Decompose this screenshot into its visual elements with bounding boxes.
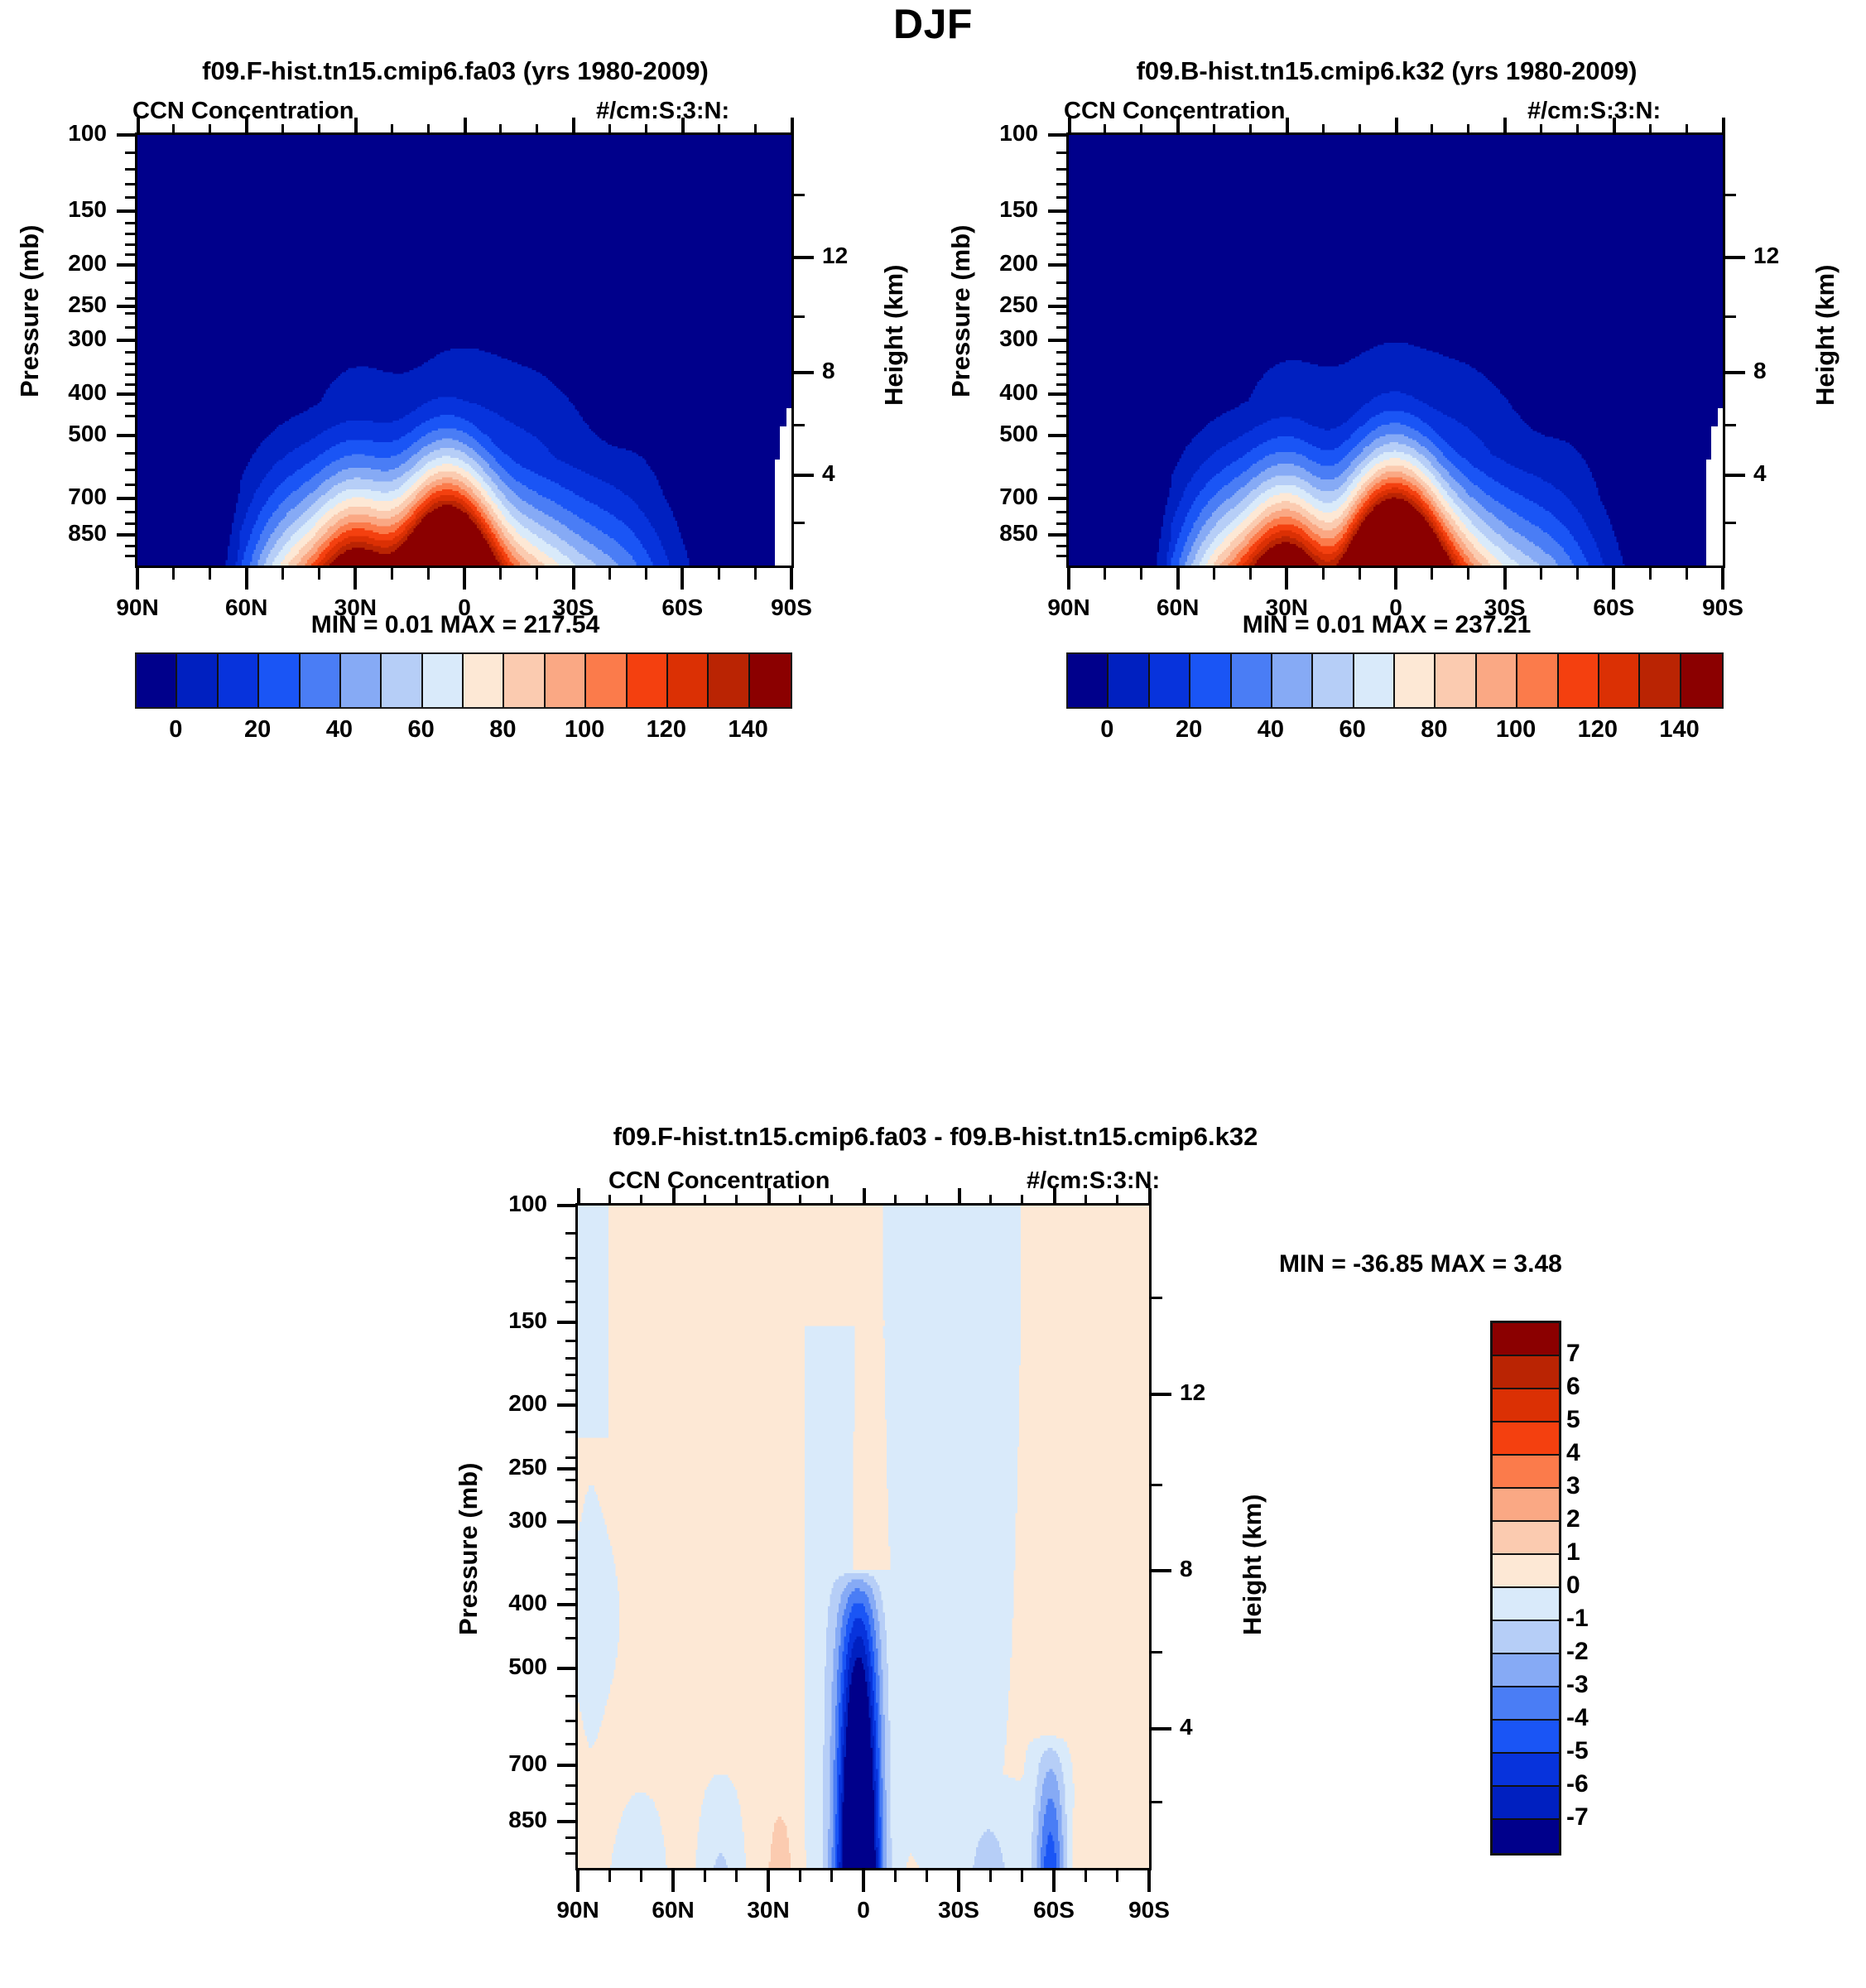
pressure-minor-tick — [1056, 545, 1066, 547]
pressure-tick-label: 100 — [68, 120, 107, 147]
colorbar-cell — [1517, 654, 1558, 707]
colorbar-cell — [341, 654, 382, 707]
colorbar-tick-label: 0 — [1100, 716, 1113, 744]
top-tick — [681, 118, 685, 132]
pressure-minor-tick — [565, 1232, 575, 1235]
pressure-tick-label: 500 — [508, 1653, 547, 1680]
lat-tick — [1285, 568, 1288, 590]
top-tick — [1148, 1188, 1152, 1203]
lat-minor-tick — [1576, 568, 1579, 580]
pressure-tick-label: 250 — [68, 291, 107, 318]
top-tick — [1613, 118, 1616, 132]
panel-diff-title: f09.F-hist.tn15.cmip6.fa03 - f09.B-hist.… — [315, 1122, 1556, 1152]
pressure-minor-tick — [565, 1539, 575, 1542]
panel-left-y2label: Height (km) — [879, 265, 909, 407]
colorbar-tick-label: -6 — [1566, 1770, 1589, 1798]
lat-tick — [1052, 1870, 1056, 1892]
colorbar-cell — [1493, 1522, 1559, 1555]
pressure-tick — [1048, 533, 1066, 537]
height-minor-tick — [794, 424, 805, 426]
colorbar-cell — [1599, 654, 1640, 707]
pressure-minor-tick — [125, 383, 135, 386]
pressure-minor-tick — [565, 1280, 575, 1283]
top-tick — [499, 124, 502, 132]
top-tick — [1104, 124, 1106, 132]
pressure-minor-tick — [125, 522, 135, 525]
lat-minor-tick — [718, 568, 720, 580]
top-tick — [464, 118, 467, 132]
colorbar-tick-label: 40 — [326, 716, 353, 744]
height-minor-tick — [1725, 522, 1736, 524]
lat-minor-tick — [894, 1870, 897, 1882]
pressure-minor-tick — [1056, 363, 1066, 365]
pressure-minor-tick — [1056, 326, 1066, 329]
pressure-minor-tick — [565, 1836, 575, 1839]
lat-tick — [862, 1870, 865, 1892]
lat-tick — [572, 568, 575, 590]
pressure-minor-tick — [565, 1573, 575, 1576]
top-tick — [608, 124, 611, 132]
lat-minor-tick — [608, 1870, 611, 1882]
top-tick — [1322, 124, 1325, 132]
colorbar-cell — [1493, 1323, 1559, 1356]
colorbar-cell — [1493, 1422, 1559, 1456]
top-tick — [1359, 124, 1361, 132]
height-tick-label: 8 — [1753, 358, 1767, 384]
colorbar-tick-label: 100 — [1496, 716, 1536, 744]
height-tick — [794, 256, 814, 259]
height-minor-tick — [1152, 1297, 1162, 1299]
pressure-tick — [1048, 263, 1066, 267]
pressure-minor-tick — [1056, 243, 1066, 246]
pressure-minor-tick — [1056, 196, 1066, 199]
top-tick — [608, 1195, 611, 1203]
colorbar-cell — [546, 654, 586, 707]
colorbar-tick-label: 20 — [244, 716, 271, 744]
colorbar-cell — [1313, 654, 1354, 707]
top-tick — [1722, 118, 1725, 132]
lat-tick-label: 90S — [1702, 594, 1743, 621]
lat-minor-tick — [926, 1870, 928, 1882]
pressure-tick — [117, 133, 135, 137]
pressure-tick-label: 400 — [68, 379, 107, 406]
top-tick — [767, 1188, 771, 1203]
top-tick — [1140, 124, 1142, 132]
pressure-tick — [557, 1467, 575, 1471]
panel-right-plot — [1066, 132, 1725, 568]
pressure-minor-tick — [125, 243, 135, 246]
panel-diff-colorbar-labels: 76543210-1-2-3-4-5-6-7 — [1566, 1321, 1641, 1851]
pressure-tick-label: 300 — [508, 1507, 547, 1533]
colorbar-cell — [586, 654, 627, 707]
colorbar-tick-label: 120 — [1578, 716, 1618, 744]
lat-tick-label: 30S — [1484, 594, 1526, 621]
pressure-minor-tick — [125, 312, 135, 315]
top-tick — [754, 124, 757, 132]
pressure-tick — [117, 305, 135, 308]
pressure-tick — [1048, 339, 1066, 342]
height-tick-label: 4 — [1753, 460, 1767, 487]
colorbar-cell — [301, 654, 341, 707]
pressure-tick — [117, 209, 135, 213]
pressure-minor-tick — [125, 555, 135, 557]
lat-minor-tick — [499, 568, 502, 580]
colorbar-cell — [1068, 654, 1109, 707]
colorbar-cell — [1493, 1820, 1559, 1853]
colorbar-cell — [1272, 654, 1313, 707]
pressure-tick-label: 100 — [508, 1191, 547, 1217]
pressure-minor-tick — [565, 1720, 575, 1722]
pressure-tick — [557, 1204, 575, 1207]
height-minor-tick — [1725, 194, 1736, 196]
pressure-minor-tick — [1056, 373, 1066, 376]
lat-minor-tick — [209, 568, 211, 580]
panel-diff-colorbar — [1490, 1321, 1561, 1856]
colorbar-cell — [504, 654, 545, 707]
colorbar-cell — [259, 654, 300, 707]
pressure-minor-tick — [1056, 282, 1066, 284]
panel-diff-variable-label: CCN Concentration — [608, 1167, 830, 1195]
colorbar-tick-label: -1 — [1566, 1605, 1589, 1633]
height-tick-label: 8 — [822, 358, 835, 384]
pressure-tick — [557, 1403, 575, 1407]
colorbar-cell — [1493, 1687, 1559, 1721]
pressure-minor-tick — [125, 484, 135, 486]
height-minor-tick — [794, 522, 805, 524]
pressure-minor-tick — [1056, 233, 1066, 235]
lat-tick — [463, 568, 466, 590]
pressure-minor-tick — [1056, 183, 1066, 185]
lat-minor-tick — [391, 568, 393, 580]
panel-right-colorbar-labels: 020406080100120140 — [1066, 716, 1720, 749]
top-tick — [354, 118, 358, 132]
pressure-minor-tick — [565, 1257, 575, 1259]
lat-tick-label: 30N — [747, 1897, 789, 1923]
pressure-tick — [117, 434, 135, 437]
lat-tick-label: 0 — [458, 594, 471, 621]
lat-tick-label: 90S — [771, 594, 812, 621]
pressure-minor-tick — [125, 168, 135, 171]
colorbar-tick-label: 3 — [1566, 1472, 1580, 1500]
pressure-tick-label: 700 — [999, 484, 1038, 510]
pressure-tick-label: 850 — [68, 520, 107, 546]
lat-tick — [681, 568, 684, 590]
top-tick — [1176, 118, 1180, 132]
colorbar-tick-label: -5 — [1566, 1737, 1589, 1765]
pressure-tick — [1048, 392, 1066, 396]
colorbar-tick-label: -7 — [1566, 1803, 1589, 1832]
top-tick — [209, 124, 211, 132]
colorbar-cell — [709, 654, 749, 707]
pressure-minor-tick — [125, 282, 135, 284]
main-title: DJF — [0, 0, 1866, 48]
panel-right-variable-label: CCN Concentration — [1064, 98, 1285, 125]
top-tick — [640, 1195, 642, 1203]
top-tick — [1686, 124, 1688, 132]
pressure-minor-tick — [1056, 484, 1066, 486]
pressure-minor-tick — [565, 1695, 575, 1697]
colorbar-cell — [1493, 1489, 1559, 1522]
pressure-minor-tick — [125, 253, 135, 256]
lat-tick-label: 60S — [1033, 1897, 1075, 1923]
lat-tick-label: 60N — [652, 1897, 694, 1923]
colorbar-cell — [423, 654, 464, 707]
lat-tick-label: 90N — [1047, 594, 1089, 621]
colorbar-cell — [219, 654, 259, 707]
lat-tick-label: 0 — [857, 1897, 870, 1923]
lat-minor-tick — [640, 1870, 642, 1882]
top-tick — [799, 1195, 801, 1203]
lat-tick-label: 30N — [1266, 594, 1308, 621]
colorbar-tick-label: 140 — [1659, 716, 1699, 744]
pressure-tick — [1048, 305, 1066, 308]
colorbar-tick-label: 2 — [1566, 1505, 1580, 1533]
pressure-minor-tick — [565, 1803, 575, 1805]
lat-minor-tick — [1467, 568, 1469, 580]
pressure-minor-tick — [125, 545, 135, 547]
pressure-tick-label: 300 — [68, 325, 107, 352]
lat-tick — [1067, 568, 1070, 590]
colorbar-cell — [668, 654, 709, 707]
pressure-tick — [1048, 209, 1066, 213]
pressure-minor-tick — [565, 1374, 575, 1376]
panel-right-units-label: #/cm:S:3:N: — [1527, 98, 1661, 125]
panel-diff-units-label: #/cm:S:3:N: — [1027, 1167, 1160, 1195]
colorbar-tick-label: 60 — [407, 716, 434, 744]
pressure-tick-label: 250 — [508, 1454, 547, 1480]
lat-minor-tick — [754, 568, 757, 580]
lat-minor-tick — [735, 1870, 738, 1882]
pressure-tick-label: 150 — [508, 1307, 547, 1334]
height-tick — [1725, 371, 1745, 374]
lat-minor-tick — [281, 568, 284, 580]
pressure-minor-tick — [125, 351, 135, 354]
pressure-tick-label: 700 — [68, 484, 107, 510]
panel-right-contours — [1069, 135, 1723, 566]
lat-tick-label: 60N — [1157, 594, 1199, 621]
colorbar-tick-label: 5 — [1566, 1406, 1580, 1434]
pressure-minor-tick — [1056, 415, 1066, 417]
lat-tick — [136, 568, 139, 590]
pressure-tick — [557, 1520, 575, 1523]
lat-minor-tick — [1213, 568, 1215, 580]
height-tick — [1152, 1727, 1171, 1730]
colorbar-tick-label: 0 — [169, 716, 182, 744]
panel-right-title: f09.B-hist.tn15.cmip6.k32 (yrs 1980-2009… — [931, 56, 1842, 86]
lat-tick — [1721, 568, 1724, 590]
colorbar-cell — [1681, 654, 1722, 707]
pressure-minor-tick — [1056, 452, 1066, 455]
panel-left-variable-label: CCN Concentration — [132, 98, 353, 125]
panel-right-y2label: Height (km) — [1811, 265, 1840, 407]
height-tick-label: 12 — [822, 243, 848, 269]
pressure-minor-tick — [1056, 469, 1066, 471]
colorbar-cell — [382, 654, 422, 707]
pressure-tick-label: 400 — [999, 379, 1038, 406]
lat-tick-label: 60S — [661, 594, 703, 621]
panel-left-ylabel: Pressure (mb) — [15, 225, 45, 397]
lat-minor-tick — [989, 1870, 992, 1882]
top-tick — [427, 124, 430, 132]
top-tick — [989, 1195, 992, 1203]
lat-minor-tick — [1431, 568, 1433, 580]
pressure-minor-tick — [125, 363, 135, 365]
lat-tick-label: 90N — [556, 1897, 599, 1923]
pressure-tick-label: 200 — [508, 1390, 547, 1417]
panel-left-plot — [135, 132, 794, 568]
height-minor-tick — [1152, 1484, 1162, 1486]
pressure-tick — [117, 533, 135, 537]
pressure-minor-tick — [125, 326, 135, 329]
lat-tick — [1612, 568, 1615, 590]
lat-minor-tick — [1104, 568, 1106, 580]
panel-left-contours — [137, 135, 791, 566]
pressure-minor-tick — [1056, 511, 1066, 513]
pressure-tick-label: 150 — [68, 196, 107, 223]
lat-tick-label: 90N — [116, 594, 158, 621]
pressure-minor-tick — [1056, 522, 1066, 525]
pressure-minor-tick — [565, 1340, 575, 1342]
pressure-minor-tick — [565, 1637, 575, 1639]
pressure-tick — [117, 497, 135, 500]
panel-left-title: f09.F-hist.tn15.cmip6.fa03 (yrs 1980-200… — [0, 56, 911, 86]
height-minor-tick — [1725, 315, 1736, 318]
panel-right-colorbar — [1066, 652, 1724, 709]
lat-minor-tick — [645, 568, 647, 580]
lat-tick — [1176, 568, 1180, 590]
top-tick — [172, 124, 175, 132]
colorbar-cell — [1493, 1754, 1559, 1787]
pressure-tick-label: 150 — [999, 196, 1038, 223]
height-tick — [1152, 1569, 1171, 1572]
colorbar-tick-label: 80 — [1421, 716, 1447, 744]
pressure-tick — [117, 339, 135, 342]
colorbar-cell — [1493, 1555, 1559, 1588]
pressure-minor-tick — [565, 1301, 575, 1303]
top-tick — [672, 1188, 676, 1203]
top-tick — [1053, 1188, 1056, 1203]
colorbar-tick-label: 6 — [1566, 1373, 1580, 1401]
colorbar-cell — [177, 654, 218, 707]
figure-root: DJF f09.F-hist.tn15.cmip6.fa03 (yrs 1980… — [0, 0, 1866, 1988]
pressure-tick — [117, 263, 135, 267]
panel-diff-ylabel: Pressure (mb) — [454, 1463, 483, 1635]
top-tick — [830, 1195, 833, 1203]
colorbar-cell — [1559, 654, 1599, 707]
lat-tick — [1147, 1870, 1151, 1892]
lat-minor-tick — [1021, 1870, 1023, 1882]
pressure-minor-tick — [565, 1479, 575, 1481]
height-minor-tick — [1152, 1651, 1162, 1653]
colorbar-cell — [1493, 1389, 1559, 1422]
lat-minor-tick — [799, 1870, 801, 1882]
colorbar-tick-label: 1 — [1566, 1538, 1580, 1567]
colorbar-tick-label: 0 — [1566, 1572, 1580, 1600]
height-tick-label: 4 — [822, 460, 835, 487]
colorbar-tick-label: 4 — [1566, 1439, 1580, 1467]
lat-tick — [767, 1870, 770, 1892]
lat-tick-label: 60S — [1593, 594, 1634, 621]
height-tick — [1725, 256, 1745, 259]
colorbar-cell — [1395, 654, 1436, 707]
height-tick — [1152, 1393, 1171, 1396]
top-tick — [318, 124, 320, 132]
top-tick — [1540, 124, 1542, 132]
colorbar-cell — [1493, 1721, 1559, 1754]
top-tick — [1395, 118, 1398, 132]
lat-tick-label: 30N — [334, 594, 377, 621]
pressure-minor-tick — [1056, 168, 1066, 171]
colorbar-tick-label: -4 — [1566, 1704, 1589, 1732]
colorbar-cell — [628, 654, 668, 707]
height-tick — [1725, 474, 1745, 477]
top-tick — [1021, 1195, 1023, 1203]
lat-tick — [1394, 568, 1397, 590]
pressure-tick-label: 500 — [68, 421, 107, 447]
pressure-minor-tick — [565, 1557, 575, 1559]
top-tick — [1286, 118, 1289, 132]
lat-tick-label: 30S — [938, 1897, 979, 1923]
height-tick-label: 12 — [1180, 1379, 1205, 1406]
pressure-minor-tick — [565, 1456, 575, 1459]
panel-right: f09.B-hist.tn15.cmip6.k32 (yrs 1980-2009… — [931, 50, 1842, 1110]
lat-minor-tick — [1084, 1870, 1087, 1882]
top-tick — [1576, 124, 1579, 132]
pressure-minor-tick — [565, 1431, 575, 1433]
pressure-minor-tick — [1056, 402, 1066, 405]
pressure-tick-label: 850 — [508, 1807, 547, 1833]
top-tick — [1068, 118, 1071, 132]
colorbar-cell — [1493, 1356, 1559, 1389]
panel-diff-plot — [575, 1203, 1152, 1870]
lat-tick-label: 30S — [553, 594, 594, 621]
pressure-minor-tick — [565, 1784, 575, 1787]
panel-diff-y2label: Height (km) — [1238, 1495, 1267, 1636]
lat-minor-tick — [1540, 568, 1542, 580]
pressure-tick — [1048, 497, 1066, 500]
top-tick — [958, 1188, 961, 1203]
pressure-tick-label: 100 — [999, 120, 1038, 147]
panel-left-units-label: #/cm:S:3:N: — [596, 98, 729, 125]
panel-diff: f09.F-hist.tn15.cmip6.fa03 - f09.B-hist.… — [315, 1122, 1556, 1983]
lat-minor-tick — [1649, 568, 1652, 580]
pressure-minor-tick — [1056, 297, 1066, 300]
lat-minor-tick — [318, 568, 320, 580]
top-tick — [791, 118, 794, 132]
pressure-tick — [557, 1820, 575, 1823]
lat-minor-tick — [704, 1870, 706, 1882]
colorbar-cell — [1493, 1621, 1559, 1654]
top-tick — [577, 1188, 580, 1203]
pressure-tick-label: 200 — [68, 250, 107, 277]
lat-minor-tick — [1140, 568, 1142, 580]
colorbar-cell — [1354, 654, 1395, 707]
panel-diff-minmax: MIN = -36.85 MAX = 3.48 — [1279, 1250, 1562, 1278]
top-tick — [1213, 124, 1215, 132]
top-tick — [718, 124, 720, 132]
pressure-tick — [117, 392, 135, 396]
pressure-tick-label: 250 — [999, 291, 1038, 318]
top-tick — [926, 1195, 928, 1203]
lat-minor-tick — [608, 568, 611, 580]
pressure-tick-label: 400 — [508, 1590, 547, 1616]
pressure-minor-tick — [125, 452, 135, 455]
top-tick — [245, 118, 248, 132]
colorbar-cell — [1493, 1456, 1559, 1489]
colorbar-tick-label: 140 — [728, 716, 767, 744]
colorbar-cell — [464, 654, 504, 707]
panel-left-colorbar — [135, 652, 792, 709]
